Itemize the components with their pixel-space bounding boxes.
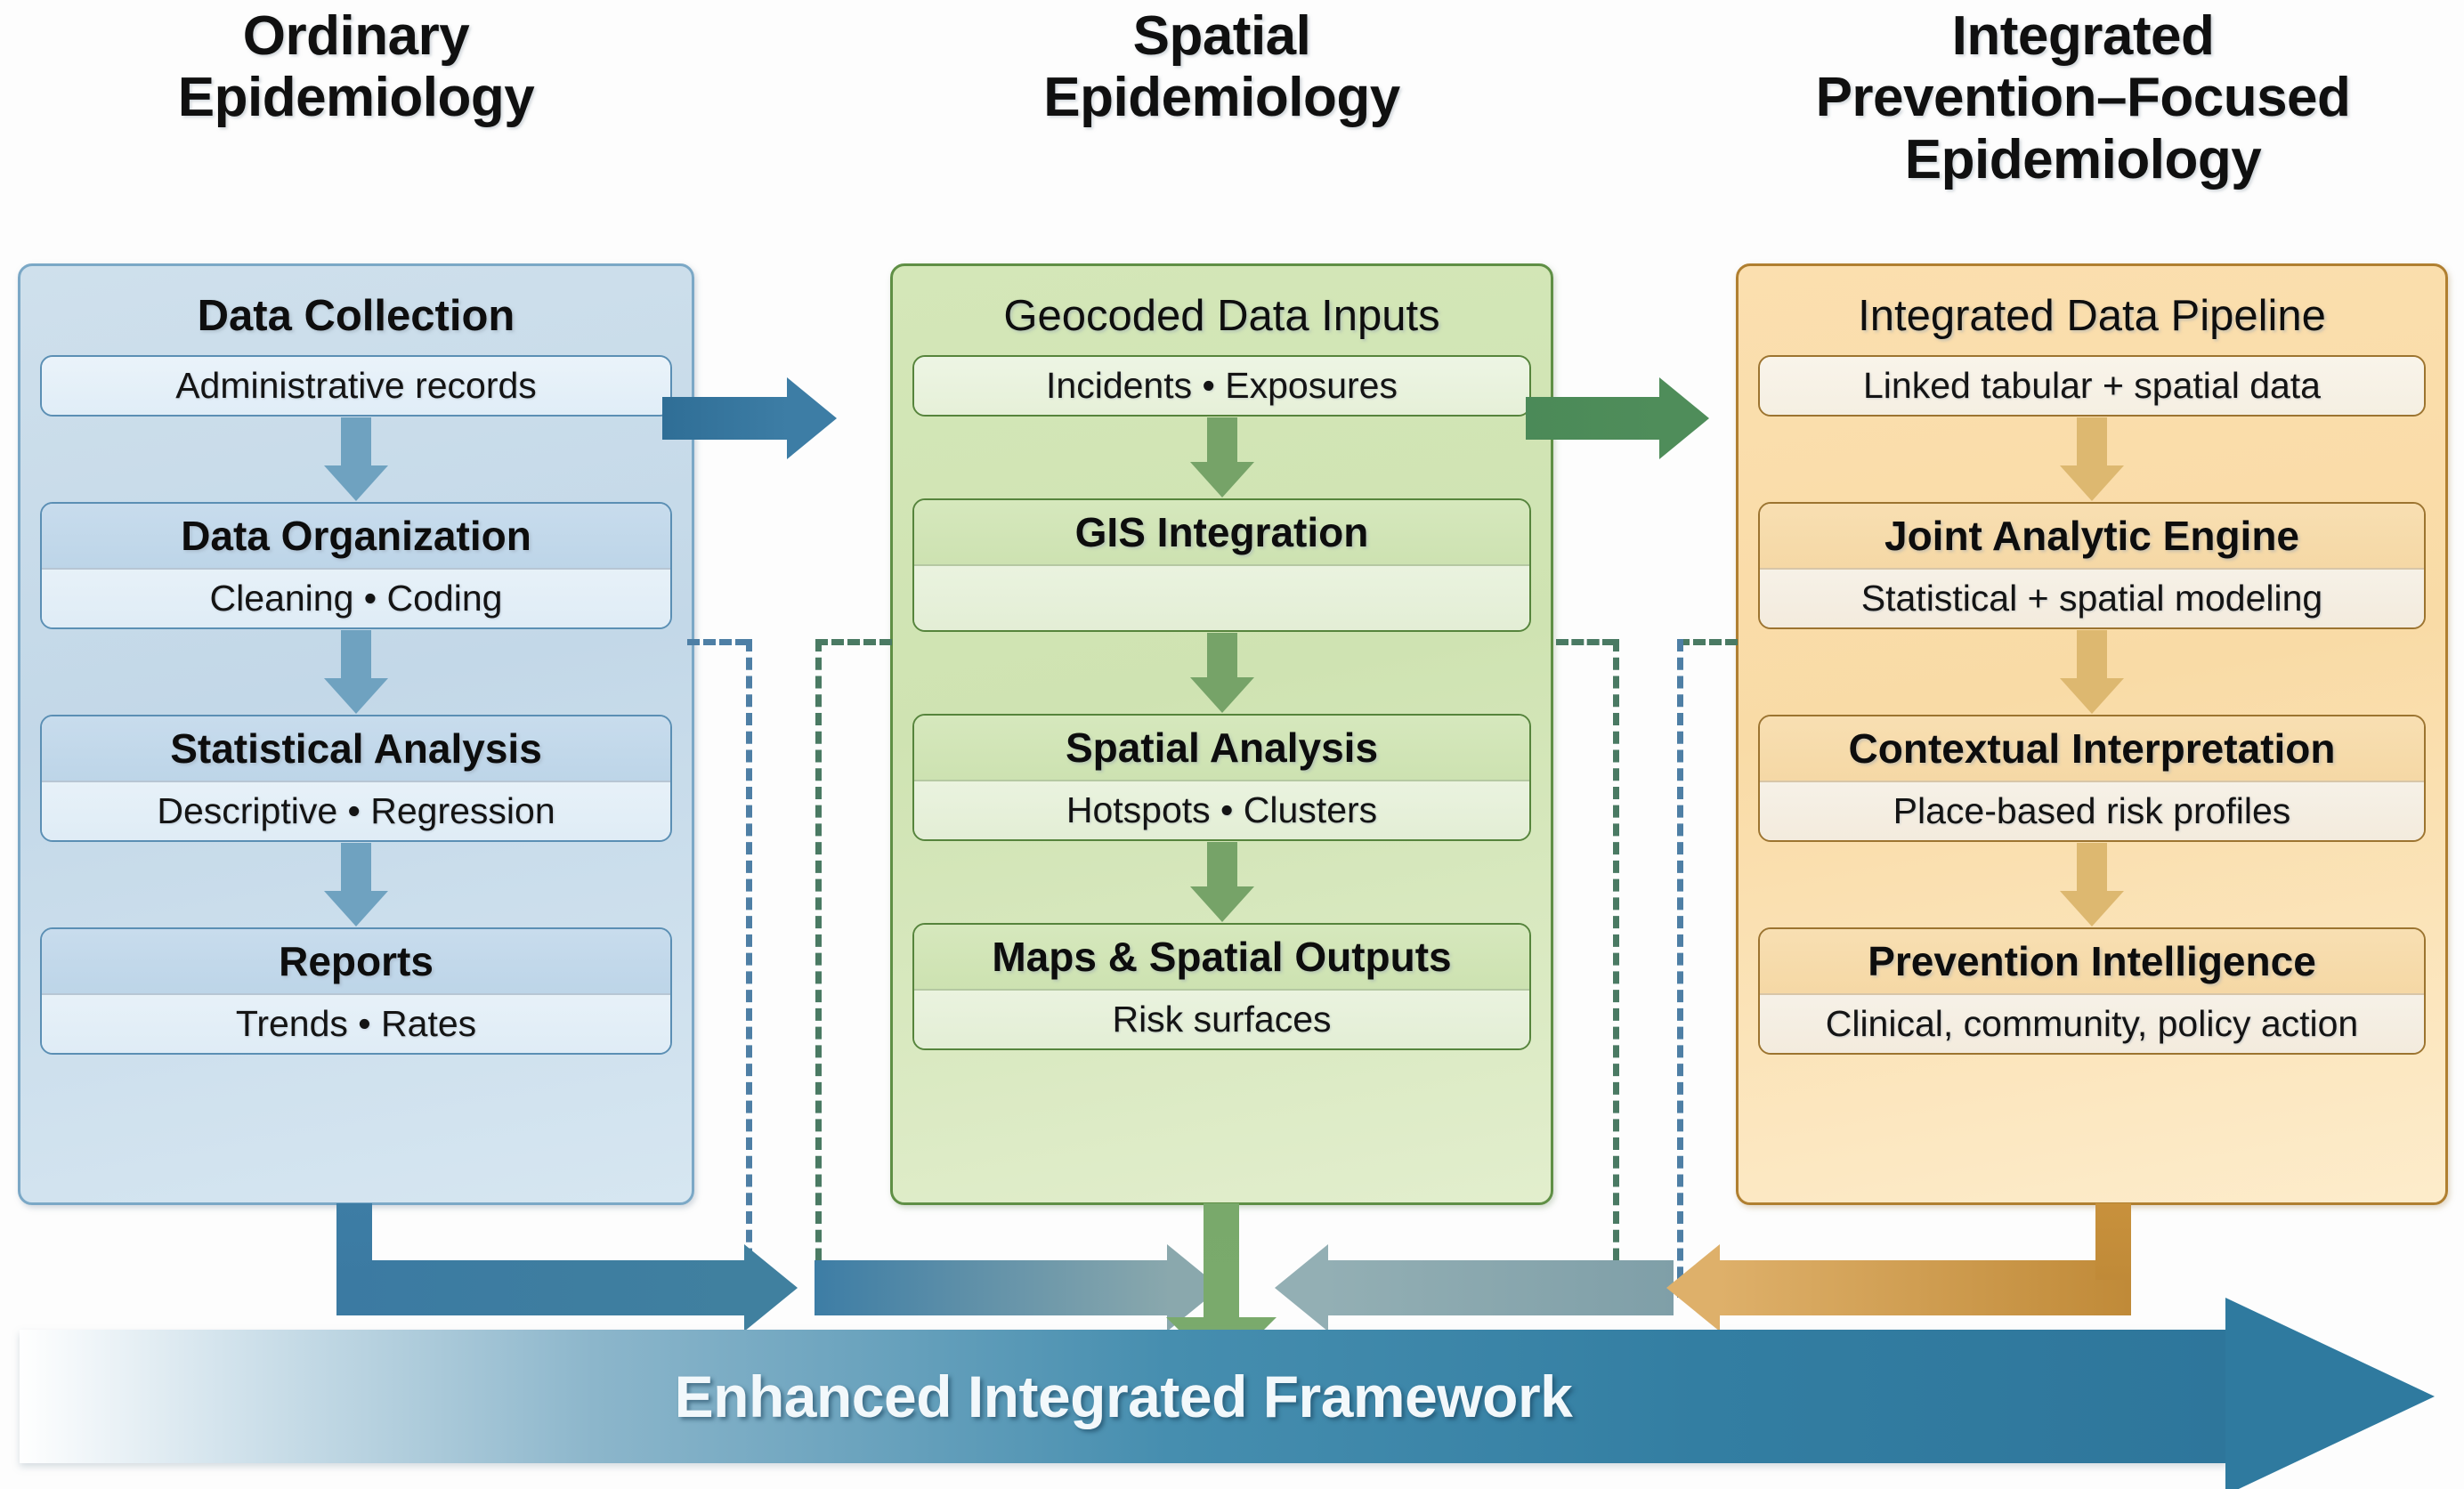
arrow-head — [1659, 377, 1709, 459]
node-title: Reports — [42, 929, 670, 993]
node-subtitle: Descriptive • Regression — [42, 781, 670, 840]
node-geocoded-data-inputs[interactable]: Incidents • Exposures — [912, 355, 1531, 417]
feedback-route-orange-stem — [2095, 1203, 2131, 1280]
feedback-route-green-stem — [1204, 1203, 1239, 1328]
feedback-route-orange-arrowhead — [1666, 1244, 1720, 1331]
dashed-feedback-connector — [1556, 639, 1615, 645]
node-subtitle: Linked tabular + spatial data — [1760, 357, 2424, 415]
flow-arrow-down — [912, 632, 1531, 714]
arrow-shaft — [662, 397, 787, 440]
arrow-head — [787, 377, 837, 459]
feedback-route-blue-arrowhead — [744, 1244, 798, 1331]
node-subtitle: Administrative records — [42, 357, 670, 415]
node-subtitle: Risk surfaces — [914, 989, 1529, 1048]
dashed-feedback-line-green — [815, 639, 822, 1298]
arrow-shaft — [1526, 397, 1659, 440]
feedback-route-grey-bar — [815, 1260, 1171, 1315]
node-title: Joint Analytic Engine — [1760, 504, 2424, 568]
feedback-route-orange-bar — [1718, 1260, 2131, 1315]
dashed-feedback-connector — [815, 639, 892, 645]
flow-arrow-down — [912, 841, 1531, 923]
node-prevention-intelligence[interactable]: Prevention Intelligence Clinical, commun… — [1758, 927, 2426, 1055]
column-title-line: Epidemiology — [1718, 129, 2448, 190]
column-title-line: Ordinary — [0, 5, 712, 67]
feedback-route-blue-bar — [336, 1260, 746, 1315]
flow-arrow-down — [1758, 417, 2426, 502]
node-title: Spatial Analysis — [914, 716, 1529, 780]
panel-heading: Geocoded Data Inputs — [912, 282, 1531, 355]
node-spatial-analysis[interactable]: Spatial Analysis Hotspots • Clusters — [912, 714, 1531, 841]
dashed-feedback-connector — [687, 639, 748, 645]
column-title-ordinary: Ordinary Epidemiology — [0, 5, 712, 129]
banner-arrowhead — [2225, 1298, 2435, 1489]
column-title-line: Prevention–Focused — [1718, 67, 2448, 128]
node-data-organization[interactable]: Data Organization Cleaning • Coding — [40, 502, 672, 629]
feedback-route-blue-stem — [336, 1203, 372, 1280]
dashed-feedback-line-blue — [746, 639, 752, 1298]
node-title: Contextual Interpretation — [1760, 716, 2424, 781]
node-title: Data Organization — [42, 504, 670, 568]
column-title-integrated: Integrated Prevention–Focused Epidemiolo… — [1718, 5, 2448, 190]
node-title: Statistical Analysis — [42, 716, 670, 781]
dashed-feedback-line-green — [1613, 639, 1619, 1298]
node-data-collection[interactable]: Administrative records — [40, 355, 672, 417]
node-gis-integration[interactable]: GIS Integration — [912, 498, 1531, 632]
column-title-line: Epidemiology — [0, 67, 712, 128]
node-title: Maps & Spatial Outputs — [914, 925, 1529, 989]
flow-arrow-down — [40, 629, 672, 715]
column-title-line: Epidemiology — [890, 67, 1553, 128]
node-joint-analytic-engine[interactable]: Joint Analytic Engine Statistical + spat… — [1758, 502, 2426, 629]
flow-arrow-down — [40, 842, 672, 927]
node-subtitle: Trends • Rates — [42, 993, 670, 1053]
arrow-spatial-to-integrated — [1526, 377, 1709, 459]
panel-ordinary-epidemiology: Data Collection Administrative records D… — [18, 263, 694, 1205]
node-subtitle: Hotspots • Clusters — [914, 780, 1529, 839]
panel-heading: Integrated Data Pipeline — [1758, 282, 2426, 355]
feedback-route-grey-return-bar — [1326, 1260, 1674, 1315]
node-subtitle: Clinical, community, policy action — [1760, 993, 2424, 1053]
column-title-line: Integrated — [1718, 5, 2448, 67]
node-subtitle: Incidents • Exposures — [914, 357, 1529, 415]
diagram-canvas: Ordinary Epidemiology Spatial Epidemiolo… — [0, 0, 2464, 1489]
column-title-line: Spatial — [890, 5, 1553, 67]
node-title: Prevention Intelligence — [1760, 929, 2424, 993]
node-subtitle: Place-based risk profiles — [1760, 781, 2424, 840]
node-reports[interactable]: Reports Trends • Rates — [40, 927, 672, 1055]
node-contextual-interpretation[interactable]: Contextual Interpretation Place-based ri… — [1758, 715, 2426, 842]
flow-arrow-down — [1758, 842, 2426, 927]
enhanced-framework-banner: Enhanced Integrated Framework — [20, 1330, 2434, 1463]
node-title: GIS Integration — [914, 500, 1529, 564]
panel-integrated-prevention-epidemiology: Integrated Data Pipeline Linked tabular … — [1736, 263, 2448, 1205]
arrow-ordinary-to-spatial — [662, 377, 837, 459]
column-title-spatial: Spatial Epidemiology — [890, 5, 1553, 129]
panel-spatial-epidemiology: Geocoded Data Inputs Incidents • Exposur… — [890, 263, 1553, 1205]
flow-arrow-down — [40, 417, 672, 502]
flow-arrow-down — [912, 417, 1531, 498]
feedback-route-grey-return-arrowhead — [1275, 1244, 1328, 1331]
banner-label: Enhanced Integrated Framework — [20, 1330, 2227, 1463]
node-subtitle — [914, 564, 1529, 630]
panel-heading: Data Collection — [40, 282, 672, 355]
node-subtitle: Statistical + spatial modeling — [1760, 568, 2424, 627]
node-maps-spatial-outputs[interactable]: Maps & Spatial Outputs Risk surfaces — [912, 923, 1531, 1050]
node-integrated-data-pipeline[interactable]: Linked tabular + spatial data — [1758, 355, 2426, 417]
node-statistical-analysis[interactable]: Statistical Analysis Descriptive • Regre… — [40, 715, 672, 842]
dashed-feedback-connector — [1677, 639, 1738, 645]
dashed-feedback-line-blue — [1677, 639, 1683, 1298]
node-subtitle: Cleaning • Coding — [42, 568, 670, 627]
flow-arrow-down — [1758, 629, 2426, 715]
